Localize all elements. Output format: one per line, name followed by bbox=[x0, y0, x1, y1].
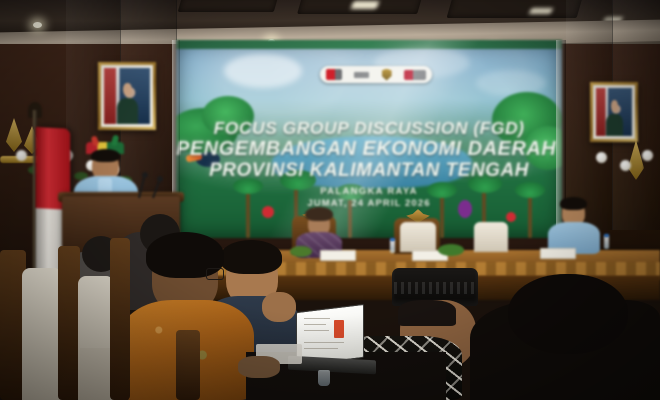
foreground-attendee-head bbox=[508, 274, 628, 354]
drinking-glass bbox=[318, 370, 330, 386]
microphone-head bbox=[142, 172, 148, 178]
banner-top-strip bbox=[176, 40, 562, 49]
banner-subtitle-date: JUMAT, 24 APRIL 2026 bbox=[176, 198, 562, 209]
banner-fruit bbox=[506, 212, 516, 222]
water-bottle-cap bbox=[390, 238, 395, 241]
panelist-hair bbox=[560, 197, 587, 210]
laptop-screen-text bbox=[304, 348, 338, 349]
foreground-chair bbox=[110, 238, 130, 400]
ojk-logo bbox=[326, 69, 342, 80]
president-portrait bbox=[98, 62, 156, 130]
portrait-image bbox=[596, 88, 632, 136]
portrait-image bbox=[104, 68, 150, 124]
ceiling-tile bbox=[447, 0, 584, 18]
panel-chair-cover bbox=[474, 222, 508, 252]
name-plate bbox=[540, 248, 576, 259]
name-plate bbox=[320, 250, 356, 261]
laptop-screen-text bbox=[304, 342, 344, 343]
foreground-chair-cover bbox=[22, 268, 62, 400]
banner-cloud bbox=[224, 54, 302, 88]
decorative-flower bbox=[620, 160, 631, 171]
speaker-hair bbox=[91, 149, 120, 162]
laptop-screen-content bbox=[334, 320, 344, 338]
panel-chair-cover bbox=[400, 222, 436, 252]
water-bottle bbox=[604, 236, 609, 249]
attendee-hair bbox=[398, 300, 456, 326]
banner-title-line-3: PROVINSI KALIMANTAN TENGAH bbox=[176, 160, 562, 182]
portrait-mat bbox=[593, 85, 635, 139]
banner-subtitle-city: PALANGKA RAYA bbox=[176, 186, 562, 197]
decorative-flower bbox=[596, 152, 607, 163]
banner-title-line-1: FOCUS GROUP DISCUSSION (FGD) bbox=[176, 118, 562, 139]
foreground-chair bbox=[58, 246, 80, 400]
foreground-chair-cover bbox=[78, 276, 114, 400]
laptop-screen-text bbox=[304, 330, 329, 331]
microphone-head bbox=[157, 176, 163, 182]
downlight bbox=[33, 22, 42, 28]
eyeglasses bbox=[206, 268, 224, 280]
portrait-suit bbox=[117, 98, 138, 124]
ceiling-tile bbox=[178, 0, 279, 12]
attendee-hand bbox=[262, 292, 296, 322]
banner-logo-bar bbox=[320, 66, 432, 83]
provincial-shield-logo bbox=[382, 69, 392, 81]
conference-photo: FOCUS GROUP DISCUSSION (FGD) PENGEMBANGA… bbox=[0, 0, 660, 400]
portrait-suit bbox=[606, 114, 623, 136]
decorative-flower bbox=[642, 150, 653, 161]
table-plant bbox=[438, 244, 464, 256]
peci-pattern bbox=[394, 282, 476, 294]
laptop-screen-text bbox=[304, 324, 326, 325]
decorative-flower bbox=[16, 150, 27, 161]
ceiling-light-panel bbox=[351, 1, 380, 9]
water-bottle bbox=[390, 240, 395, 253]
portrait-head bbox=[611, 100, 617, 112]
event-backdrop-banner: FOCUS GROUP DISCUSSION (FGD) PENGEMBANGA… bbox=[176, 40, 562, 238]
laptop-screen-text bbox=[304, 318, 330, 319]
vice-president-portrait bbox=[590, 82, 638, 142]
typing-hand bbox=[238, 356, 280, 378]
portrait-head bbox=[123, 83, 131, 96]
bank-indonesia-logo bbox=[404, 70, 426, 80]
portrait-mat bbox=[101, 65, 153, 127]
foreground-chair bbox=[176, 330, 200, 400]
water-bottle-cap bbox=[604, 234, 609, 237]
ceiling-light-panel bbox=[529, 8, 553, 14]
banner-title-line-2: PENGEMBANGAN EKONOMI DAERAH (PED) bbox=[176, 138, 562, 161]
panelist-headwrap bbox=[305, 207, 333, 221]
attendee-hair bbox=[220, 240, 282, 274]
partner-wordmark-logo bbox=[354, 72, 369, 78]
table-plant bbox=[290, 246, 312, 257]
